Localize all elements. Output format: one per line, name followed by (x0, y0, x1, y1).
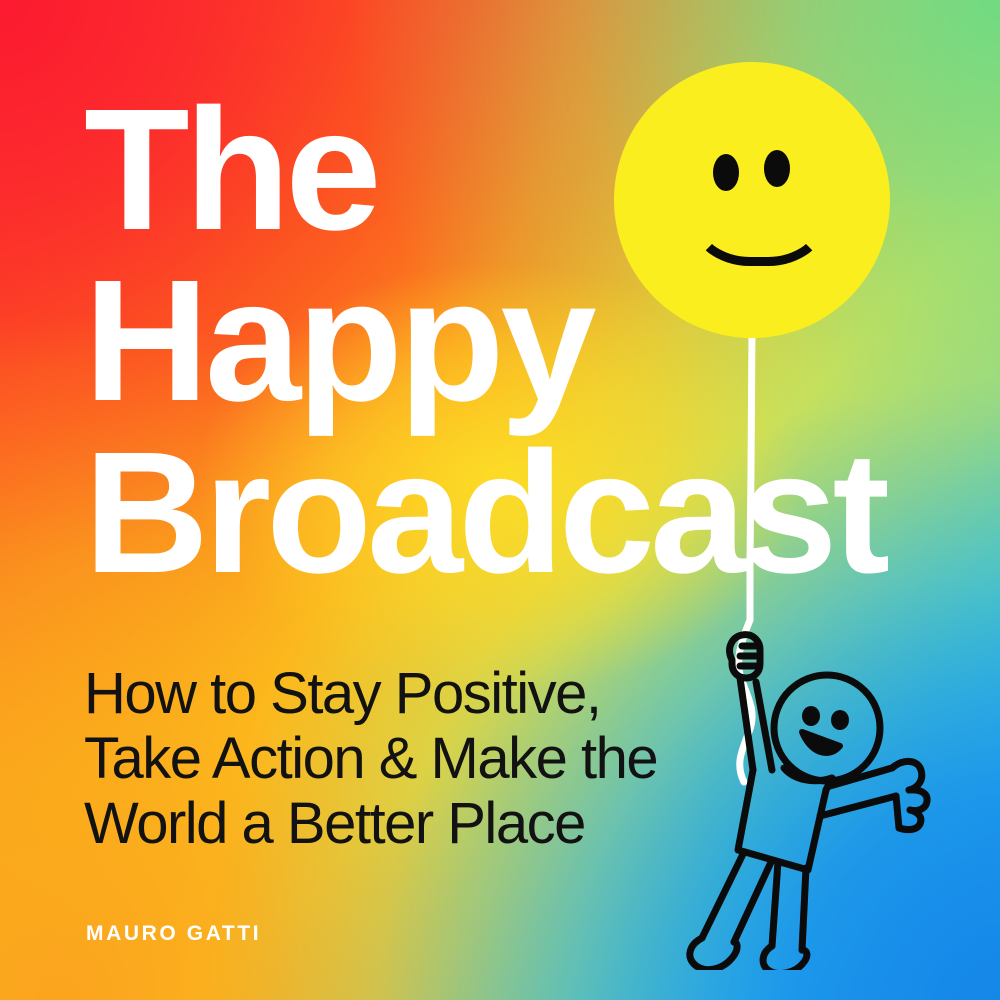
author-name: MAURO GATTI (86, 922, 261, 946)
title-line-2: Happy (84, 255, 944, 426)
cover-title: The Happy Broadcast (84, 84, 944, 598)
subtitle-line-3: World a Better Place (84, 792, 744, 857)
subtitle-line-2: Take Action & Make the (84, 727, 744, 792)
title-line-3: Broadcast (84, 427, 944, 598)
book-cover: The Happy Broadcast How to Stay Positive… (0, 0, 1000, 1000)
title-line-1: The (84, 84, 944, 255)
subtitle-line-1: How to Stay Positive, (84, 662, 744, 727)
cover-subtitle: How to Stay Positive, Take Action & Make… (84, 662, 744, 857)
